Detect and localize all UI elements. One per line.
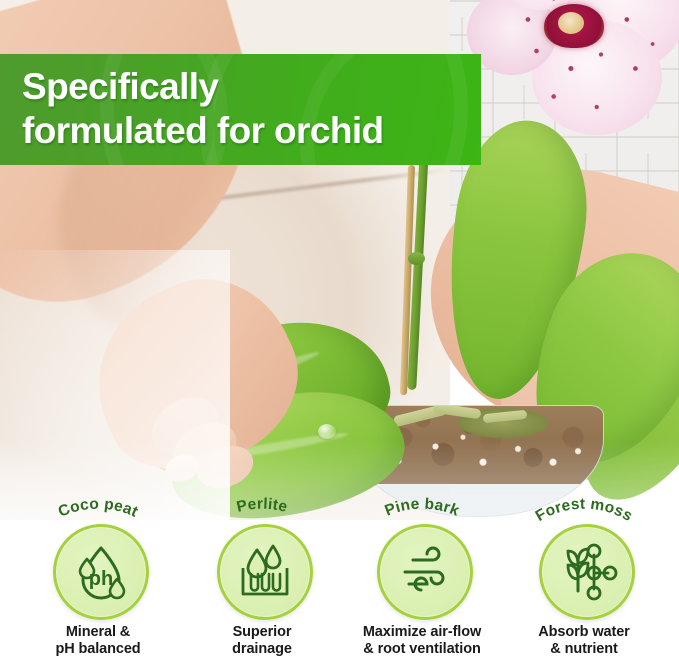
caption-line-2: drainage — [182, 641, 342, 658]
feature-caption: Mineral & pH balanced — [18, 624, 178, 658]
plant-molecule-icon — [556, 541, 618, 603]
feature-arc-label: Pine bark — [383, 496, 462, 520]
caption-line-2: & nutrient — [504, 641, 664, 658]
caption-line-1: Absorb water — [504, 624, 664, 641]
headline-line-1: Specifically — [22, 65, 472, 109]
feature-icon-circle — [539, 524, 635, 620]
svg-text:Perlite: Perlite — [235, 496, 289, 516]
product-infographic: Specifically formulated for orchid Coco … — [0, 0, 679, 671]
caption-line-1: Mineral & — [18, 624, 178, 641]
feature-caption: Absorb water & nutrient — [504, 624, 664, 658]
feature-strip: Coco peat ph Mineral & pH balanced Perli… — [0, 498, 679, 671]
feature-caption: Maximize air-flow & root ventilation — [342, 624, 502, 658]
ph-label: ph — [89, 568, 113, 590]
headline-banner: Specifically formulated for orchid — [0, 54, 481, 165]
feature-pine-bark: Pine bark Maximize air-flow & root venti… — [342, 498, 502, 671]
caption-line-1: Superior — [182, 624, 342, 641]
feature-perlite: Perlite Superior drainage — [182, 498, 342, 671]
svg-text:Forest moss: Forest moss — [533, 496, 636, 525]
stem-node — [408, 252, 425, 265]
svg-text:Pine bark: Pine bark — [383, 496, 462, 520]
feature-coco-peat: Coco peat ph Mineral & pH balanced — [18, 498, 178, 671]
feature-icon-circle — [217, 524, 313, 620]
caption-line-2: & root ventilation — [342, 641, 502, 658]
caption-line-1: Maximize air-flow — [342, 624, 502, 641]
feature-icon-circle: ph — [53, 524, 149, 620]
feature-arc-label: Coco peat — [56, 496, 141, 521]
svg-text:Coco peat: Coco peat — [56, 496, 141, 521]
water-droplet — [318, 424, 336, 439]
feature-forest-moss: Forest moss Absorb water & n — [504, 498, 664, 671]
feature-caption: Superior drainage — [182, 624, 342, 658]
headline-line-2: formulated for orchid — [22, 109, 472, 153]
feature-arc-label: Forest moss — [533, 496, 636, 525]
feature-icon-circle — [377, 524, 473, 620]
orchid-flower — [472, 0, 679, 135]
drainage-drops-icon — [235, 542, 295, 602]
page-title: Specifically formulated for orchid — [22, 65, 472, 153]
feature-arc-label: Perlite — [235, 496, 289, 516]
caption-line-2: pH balanced — [18, 641, 178, 658]
ph-water-drop-icon: ph — [70, 541, 132, 603]
airflow-wind-icon — [395, 542, 455, 602]
